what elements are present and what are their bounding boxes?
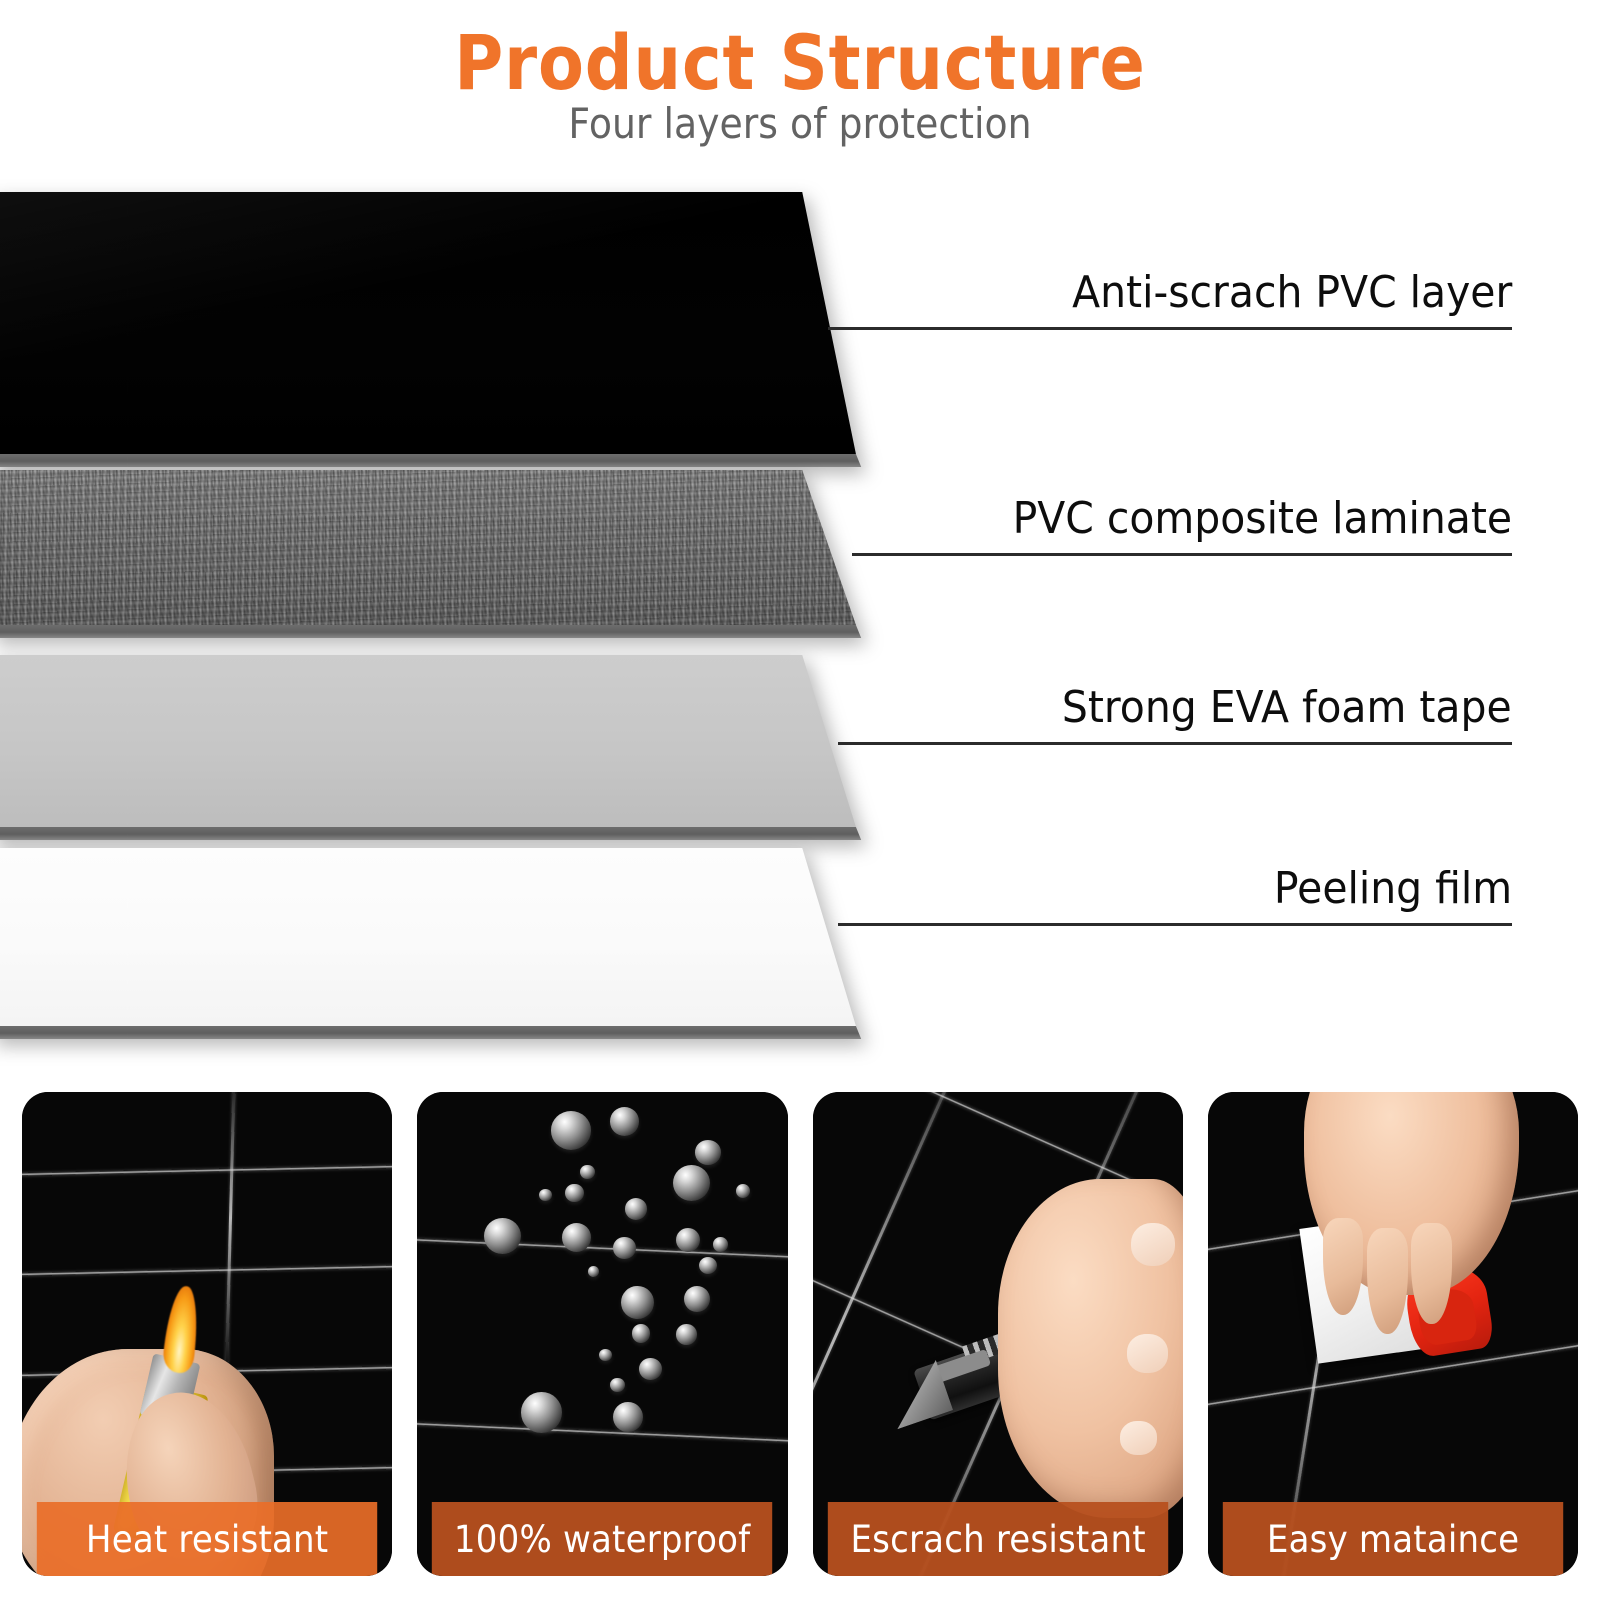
water-droplet <box>713 1237 728 1252</box>
feature-panel-heat-resistant: Heat resistant <box>22 1092 392 1576</box>
callout-label: Strong EVA foam tape <box>1062 682 1512 733</box>
feature-caption: Escrach resistant <box>827 1502 1168 1576</box>
water-droplet <box>676 1324 696 1344</box>
water-droplet <box>551 1111 592 1150</box>
slab-edge-textured-laminate <box>0 625 870 638</box>
feature-caption: Heat resistant <box>37 1502 378 1576</box>
layer-slab-peeling-film <box>0 848 870 1026</box>
fingernail <box>1131 1223 1175 1267</box>
fingernail <box>1127 1334 1168 1373</box>
callout-label: Peeling film <box>1274 863 1512 914</box>
fingernail <box>1120 1421 1157 1455</box>
water-droplet <box>599 1349 612 1362</box>
feature-panel-grid: Heat resistant <box>0 1092 1600 1592</box>
water-droplet <box>695 1140 721 1164</box>
product-structure-infographic: Product Structure Four layers of protect… <box>0 0 1600 1600</box>
water-droplet <box>562 1223 592 1252</box>
feature-panel-scratch-resistant: Escrach resistant <box>813 1092 1183 1576</box>
slab-face-peeling-film <box>0 848 870 1026</box>
layer-slab-anti-scratch-pvc <box>0 192 870 454</box>
layer-slab-eva-foam-tape <box>0 655 870 827</box>
layer-slab-pvc-composite-laminate <box>0 470 870 625</box>
feature-panel-waterproof: 100% waterproof <box>417 1092 787 1576</box>
water-droplet <box>580 1165 595 1180</box>
slab-face-textured-laminate <box>0 470 870 625</box>
water-droplet <box>521 1392 562 1433</box>
water-droplet <box>676 1228 700 1252</box>
feature-caption: Easy mataince <box>1223 1502 1564 1576</box>
water-droplet <box>613 1402 643 1432</box>
layer-stack-diagram: Anti-scrach PVC layer PVC composite lami… <box>0 0 1600 1075</box>
slab-face-black-pvc <box>0 192 870 454</box>
water-droplet <box>632 1324 651 1342</box>
water-droplet <box>610 1107 640 1136</box>
callout-leader-line <box>828 327 1512 330</box>
slab-edge-peeling-film <box>0 1026 870 1039</box>
water-droplet <box>625 1198 647 1220</box>
water-droplet <box>673 1165 710 1201</box>
callout-leader-line <box>852 553 1512 556</box>
feature-caption: 100% waterproof <box>432 1502 773 1576</box>
water-droplet <box>610 1378 625 1393</box>
callout-leader-line <box>838 923 1512 926</box>
water-droplet <box>684 1286 710 1312</box>
callout-label: PVC composite laminate <box>1013 493 1512 544</box>
slab-face-eva-foam <box>0 655 870 827</box>
water-droplet <box>699 1257 718 1274</box>
callout-leader-line <box>838 742 1512 745</box>
water-droplet <box>484 1218 521 1254</box>
water-droplet <box>588 1266 599 1277</box>
water-droplet <box>613 1237 635 1259</box>
slab-edge-eva-foam <box>0 827 870 840</box>
callout-label: Anti-scrach PVC layer <box>1072 267 1512 318</box>
water-droplet <box>565 1184 584 1202</box>
feature-panel-easy-maintenance: Easy mataince <box>1208 1092 1578 1576</box>
water-droplet <box>639 1358 661 1380</box>
slab-edge-black-pvc <box>0 454 870 467</box>
